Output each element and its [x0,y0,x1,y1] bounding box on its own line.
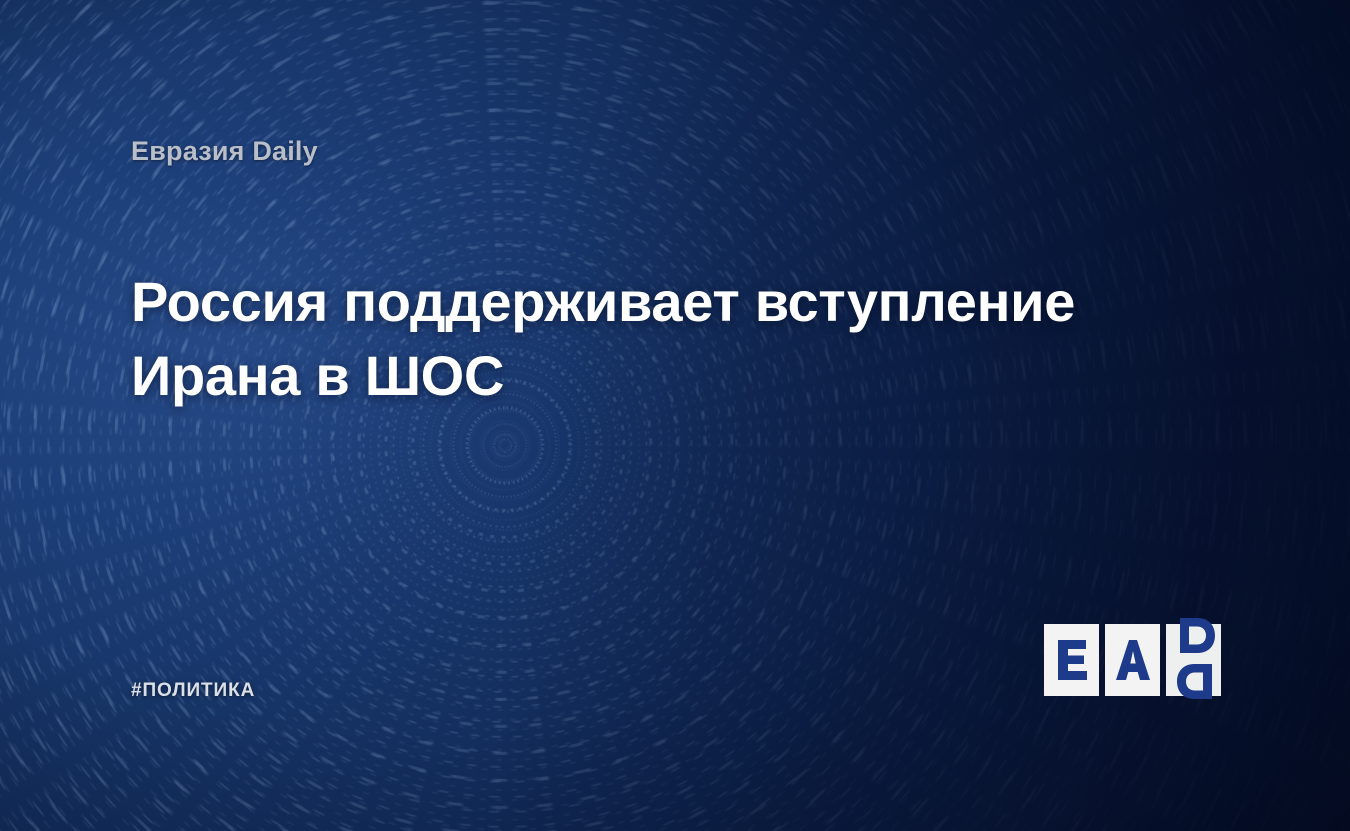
d-mark-bottom-icon [1172,657,1220,705]
logo-tile-a [1105,624,1160,696]
letter-a-icon [1114,638,1152,682]
eadaily-logo [1044,624,1221,696]
news-card: Евразия Daily Россия поддерживает вступл… [0,0,1350,831]
logo-tile-monogram [1166,624,1221,696]
brand-wordmark: Евразия Daily [131,136,318,167]
headline: Россия поддерживает вступление Ирана в Ш… [131,265,1091,413]
category-hashtag: #ПОЛИТИКА [131,680,255,702]
letter-e-icon [1055,638,1089,682]
logo-tile-e [1044,624,1099,696]
d-mark-top-icon [1172,612,1220,660]
background-vignette [0,0,1350,831]
